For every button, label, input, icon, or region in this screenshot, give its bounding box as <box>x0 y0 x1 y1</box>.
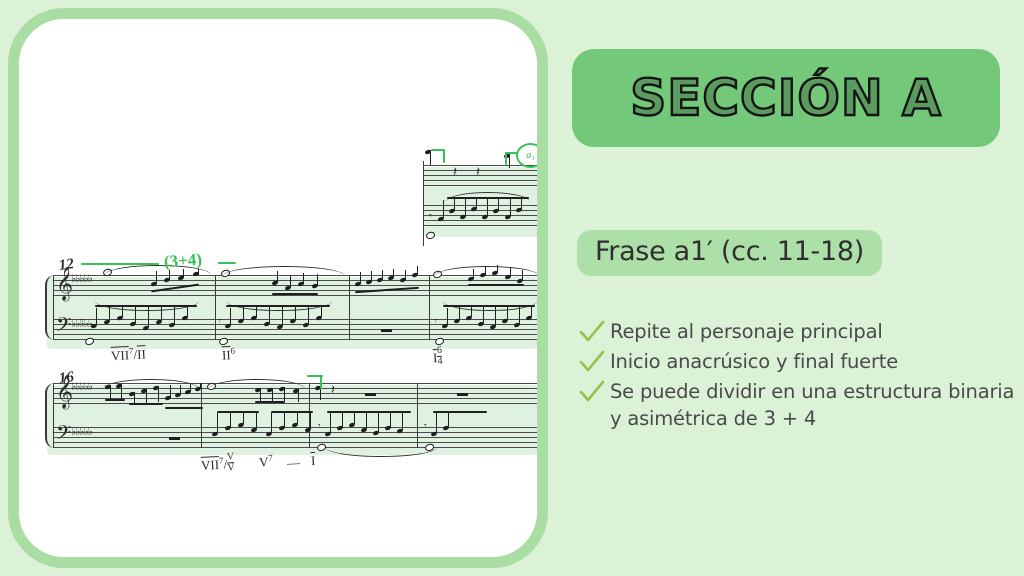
whole-rest <box>381 329 392 332</box>
barline <box>201 383 202 448</box>
key-signature: ♭♭♭♭♭ <box>71 381 92 392</box>
quarter-rest: 𝄽 <box>453 165 457 180</box>
slur <box>435 266 539 276</box>
harmonic-analysis-4: VII7/VV <box>200 452 234 475</box>
marker-underline-right <box>218 262 236 264</box>
bass-clef: 𝄢 <box>56 315 71 339</box>
bass-staff-2 <box>53 427 541 448</box>
info-panel: SECCIÓN A Frase a1′ (cc. 11-18) Repite a… <box>566 0 1024 576</box>
key-signature: ♭♭♭♭♭ <box>71 426 92 437</box>
barline <box>429 275 430 340</box>
excerpt-treble-staff <box>423 165 540 186</box>
whole-note <box>84 337 94 346</box>
page-title: SECCIÓN A <box>572 49 1000 147</box>
check-icon <box>576 348 610 376</box>
score-sheet: 𝄽 𝄽 𝄾 a₁ <box>19 19 537 557</box>
key-signature: ♭♭♭♭♭ <box>71 273 92 284</box>
quarter-rest: 𝄽 <box>476 165 480 180</box>
harmonic-analysis-1: VII7/II <box>111 345 147 364</box>
tie <box>325 447 437 457</box>
bullet-list: Repite al personaje principal Inicio ana… <box>576 318 1016 434</box>
list-item-label: Se puede dividir en una estructura binar… <box>584 378 1016 432</box>
slur <box>223 266 345 276</box>
eighth-rest: 𝄾 <box>81 316 84 327</box>
harmonic-analysis-5: V7 <box>259 453 274 471</box>
whole-rest <box>169 437 180 440</box>
harmonic-analysis-6: I <box>311 453 316 469</box>
score-image-card: 𝄽 𝄽 𝄾 a₁ <box>8 8 548 568</box>
check-icon <box>576 378 610 406</box>
list-item-label: Repite al personaje principal <box>610 318 883 345</box>
stem <box>430 150 431 165</box>
stem <box>509 154 510 168</box>
list-item-label: Inicio anacrúsico y final fuerte <box>610 348 898 375</box>
marker-label-a1: a₁ <box>516 143 545 168</box>
harmonic-analysis-2: II6 <box>222 346 236 364</box>
list-item: Se puede dividir en una estructura binar… <box>576 378 1016 432</box>
quarter-rest: 𝄽 <box>331 383 335 398</box>
bass-staff-1 <box>53 319 541 340</box>
phrase-subtitle: Frase a1′ (cc. 11-18) <box>595 236 864 267</box>
harmonic-analysis-dash: — <box>287 455 301 472</box>
list-item: Inicio anacrúsico y final fuerte <box>576 348 1016 376</box>
harmonic-analysis-3: I64 <box>432 346 442 367</box>
phrase-subtitle-badge: Frase a1′ (cc. 11-18) <box>577 230 882 276</box>
section-title-banner: SECCIÓN A <box>572 49 1000 147</box>
bass-clef: 𝄢 <box>56 423 71 447</box>
list-item: Repite al personaje principal <box>576 318 1016 346</box>
marker-annotation-3plus4: (3+4) <box>163 250 202 273</box>
eighth-rest: 𝄾 <box>429 211 432 222</box>
barline <box>349 275 350 340</box>
barline <box>417 383 418 448</box>
barline <box>215 275 216 340</box>
slur <box>95 301 199 311</box>
check-icon <box>576 318 610 346</box>
